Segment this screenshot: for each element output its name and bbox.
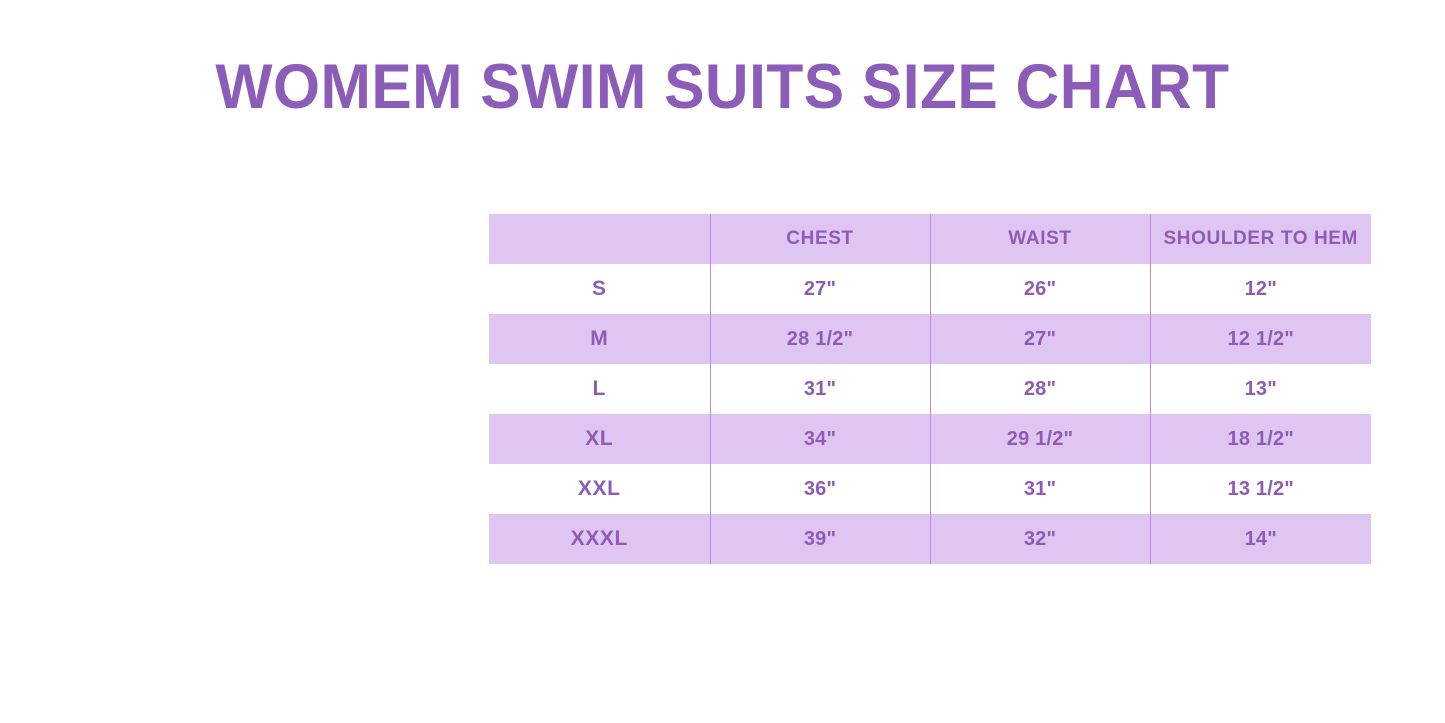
- cell-chest: 34": [710, 414, 930, 464]
- cell-shoulder-to-hem: 12 1/2": [1150, 314, 1371, 364]
- cell-chest: 27": [710, 264, 930, 314]
- table-row: XXXL39"32"14": [489, 514, 1371, 564]
- cell-shoulder-to-hem: 13 1/2": [1150, 464, 1371, 514]
- page-title: WOMEM SWIM SUITS SIZE CHART: [29, 52, 1416, 122]
- size-chart-table: CHEST WAIST SHOULDER TO HEM S27"26"12"M2…: [489, 214, 1371, 564]
- cell-chest: 31": [710, 364, 930, 414]
- table-header-row: CHEST WAIST SHOULDER TO HEM: [489, 214, 1371, 264]
- cell-waist: 31": [930, 464, 1150, 514]
- table-row: L31"28"13": [489, 364, 1371, 414]
- cell-size: XL: [489, 414, 710, 464]
- cell-size: XXXL: [489, 514, 710, 564]
- cell-size: M: [489, 314, 710, 364]
- cell-size: XXL: [489, 464, 710, 514]
- table-row: XL34"29 1/2"18 1/2": [489, 414, 1371, 464]
- cell-waist: 28": [930, 364, 1150, 414]
- cell-size: L: [489, 364, 710, 414]
- cell-waist: 32": [930, 514, 1150, 564]
- cell-chest: 28 1/2": [710, 314, 930, 364]
- cell-shoulder-to-hem: 18 1/2": [1150, 414, 1371, 464]
- table-row: M28 1/2"27"12 1/2": [489, 314, 1371, 364]
- column-header-shoulder-to-hem: SHOULDER TO HEM: [1150, 214, 1371, 264]
- cell-shoulder-to-hem: 13": [1150, 364, 1371, 414]
- table-row: XXL36"31"13 1/2": [489, 464, 1371, 514]
- cell-shoulder-to-hem: 12": [1150, 264, 1371, 314]
- cell-chest: 39": [710, 514, 930, 564]
- column-header-chest: CHEST: [710, 214, 930, 264]
- size-chart-table-container: CHEST WAIST SHOULDER TO HEM S27"26"12"M2…: [489, 214, 1371, 564]
- cell-shoulder-to-hem: 14": [1150, 514, 1371, 564]
- cell-chest: 36": [710, 464, 930, 514]
- table-header: CHEST WAIST SHOULDER TO HEM: [489, 214, 1371, 264]
- cell-waist: 29 1/2": [930, 414, 1150, 464]
- column-header-waist: WAIST: [930, 214, 1150, 264]
- cell-size: S: [489, 264, 710, 314]
- table-body: S27"26"12"M28 1/2"27"12 1/2"L31"28"13"XL…: [489, 264, 1371, 564]
- cell-waist: 27": [930, 314, 1150, 364]
- table-row: S27"26"12": [489, 264, 1371, 314]
- size-chart-page: WOMEM SWIM SUITS SIZE CHART CHEST WAIST …: [0, 0, 1445, 723]
- cell-waist: 26": [930, 264, 1150, 314]
- column-header-size: [489, 214, 710, 264]
